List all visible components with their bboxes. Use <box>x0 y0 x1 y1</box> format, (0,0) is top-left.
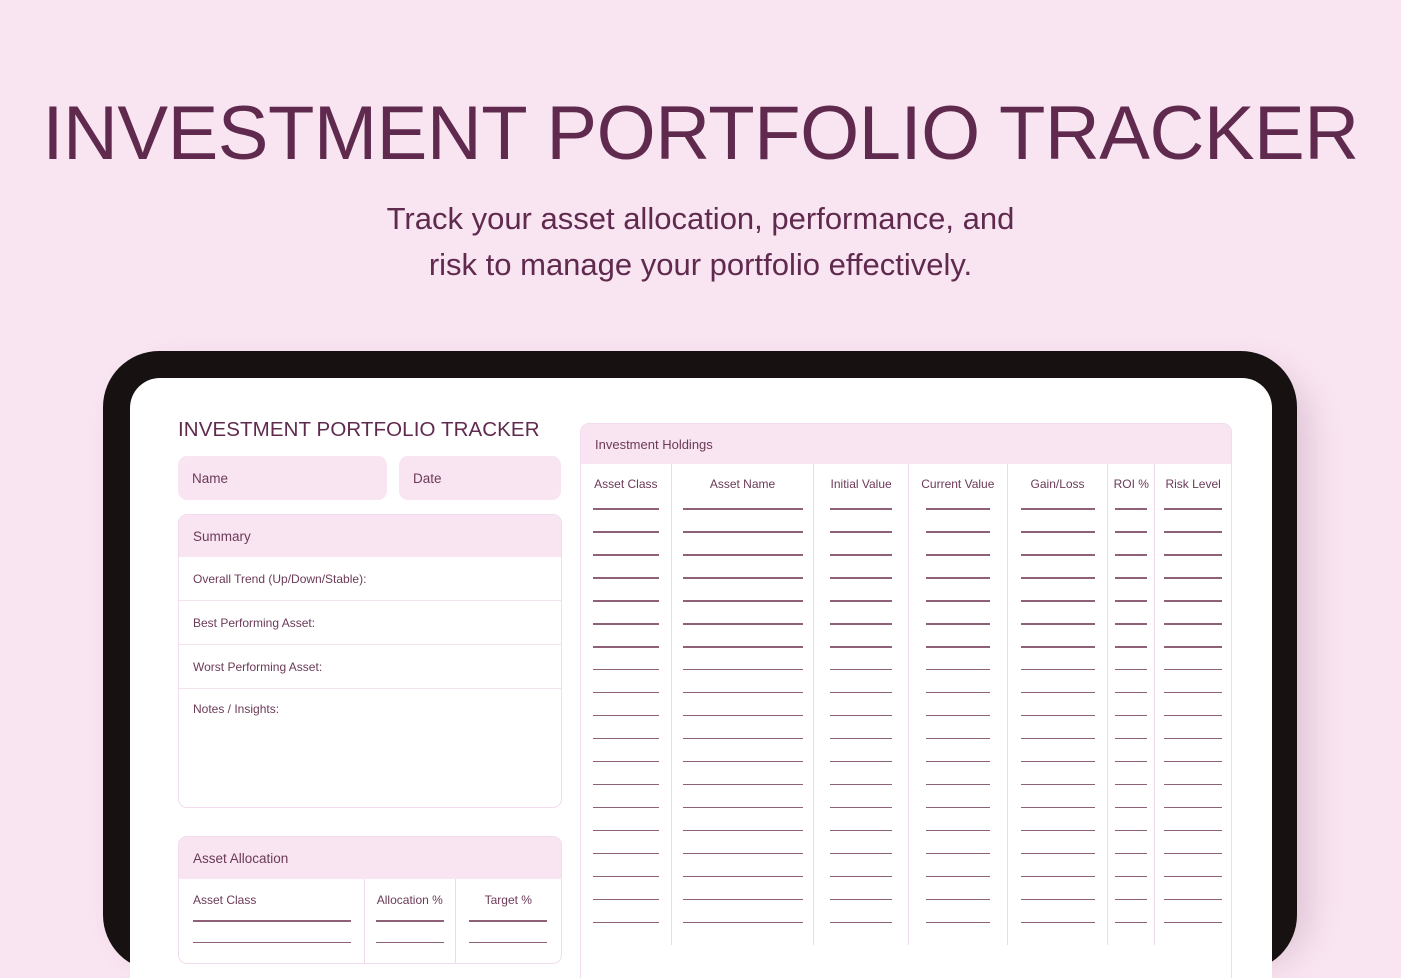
holdings-blank-line[interactable] <box>1164 761 1222 763</box>
holdings-blank-line[interactable] <box>830 577 892 579</box>
holdings-blank-line[interactable] <box>926 508 990 510</box>
holdings-blank-line[interactable] <box>926 669 990 671</box>
holdings-blank-line[interactable] <box>1164 899 1222 901</box>
holdings-blank-line[interactable] <box>830 922 892 924</box>
holdings-blank-line[interactable] <box>1115 531 1147 533</box>
holdings-blank-line[interactable] <box>1164 669 1222 671</box>
alloc-column-header: Target % <box>456 893 561 907</box>
holdings-blank-line[interactable] <box>926 784 990 786</box>
holdings-blank-line[interactable] <box>593 899 659 901</box>
holdings-blank-line[interactable] <box>830 830 892 832</box>
summary-row-label: Overall Trend (Up/Down/Stable): <box>193 572 366 586</box>
holdings-column-asset-class: Asset Class <box>581 464 671 945</box>
holdings-blank-line[interactable] <box>1115 830 1147 832</box>
holdings-blank-line[interactable] <box>830 508 892 510</box>
holdings-blank-line[interactable] <box>1115 600 1147 602</box>
holdings-column-header: Asset Class <box>581 477 671 491</box>
asset-allocation-table: Asset Class Allocation % Target % <box>179 879 561 963</box>
holdings-column-header: Risk Level <box>1155 477 1231 491</box>
holdings-blank-line[interactable] <box>683 692 803 694</box>
holdings-blank-line[interactable] <box>926 761 990 763</box>
holdings-blank-line[interactable] <box>1115 807 1147 809</box>
holdings-blank-line[interactable] <box>1115 738 1147 740</box>
holdings-blank-line[interactable] <box>593 646 659 648</box>
holdings-blank-line[interactable] <box>1115 853 1147 855</box>
holdings-blank-line[interactable] <box>926 830 990 832</box>
holdings-blank-line[interactable] <box>1164 646 1222 648</box>
holdings-blank-line[interactable] <box>830 738 892 740</box>
holdings-column-gain-loss: Gain/Loss <box>1007 464 1108 945</box>
name-field[interactable]: Name <box>178 456 387 500</box>
alloc-blank-line[interactable] <box>193 942 351 944</box>
holdings-blank-line[interactable] <box>593 531 659 533</box>
summary-row-best-performing[interactable]: Best Performing Asset: <box>179 601 561 645</box>
holdings-column-header: ROI % <box>1108 477 1154 491</box>
holdings-blank-line[interactable] <box>1115 577 1147 579</box>
holdings-blank-line[interactable] <box>593 623 659 625</box>
holdings-blank-line[interactable] <box>683 876 803 878</box>
holdings-blank-line[interactable] <box>1164 554 1222 556</box>
holdings-blank-line[interactable] <box>683 669 803 671</box>
holdings-blank-line[interactable] <box>1021 508 1095 510</box>
holdings-blank-line[interactable] <box>683 531 803 533</box>
summary-row-label: Best Performing Asset: <box>193 616 315 630</box>
summary-row-worst-performing[interactable]: Worst Performing Asset: <box>179 645 561 689</box>
worksheet-right-column: Investment Holdings Asset Class Asset Na… <box>580 423 1230 978</box>
holdings-blank-line[interactable] <box>1164 807 1222 809</box>
holdings-blank-line[interactable] <box>683 830 803 832</box>
holdings-blank-line[interactable] <box>1021 761 1095 763</box>
holdings-blank-line[interactable] <box>1115 876 1147 878</box>
holdings-blank-line[interactable] <box>1164 531 1222 533</box>
tablet-screen: INVESTMENT PORTFOLIO TRACKER Name Date S… <box>130 378 1272 978</box>
holdings-blank-line[interactable] <box>1021 876 1095 878</box>
holdings-blank-line[interactable] <box>1115 761 1147 763</box>
holdings-blank-line[interactable] <box>683 554 803 556</box>
holdings-blank-line[interactable] <box>1021 922 1095 924</box>
holdings-blank-line[interactable] <box>683 646 803 648</box>
holdings-blank-line[interactable] <box>926 646 990 648</box>
holdings-blank-line[interactable] <box>830 761 892 763</box>
holdings-blank-line[interactable] <box>593 508 659 510</box>
holdings-blank-line[interactable] <box>593 738 659 740</box>
holdings-blank-line[interactable] <box>1164 715 1222 717</box>
holdings-blank-line[interactable] <box>593 554 659 556</box>
holdings-blank-line[interactable] <box>1164 830 1222 832</box>
holdings-blank-line[interactable] <box>926 899 990 901</box>
holdings-blank-line[interactable] <box>683 600 803 602</box>
page-subtitle-line-2: risk to manage your portfolio effectivel… <box>429 247 972 282</box>
holdings-blank-line[interactable] <box>926 600 990 602</box>
summary-row-label: Worst Performing Asset: <box>193 660 322 674</box>
investment-holdings-table: Asset Class Asset Name Initial Value Cur… <box>581 464 1231 945</box>
holdings-blank-line[interactable] <box>593 876 659 878</box>
investment-holdings-card: Investment Holdings Asset Class Asset Na… <box>580 423 1232 978</box>
holdings-blank-line[interactable] <box>1021 646 1095 648</box>
summary-card-header: Summary <box>179 515 561 557</box>
asset-allocation-card-header: Asset Allocation <box>179 837 561 879</box>
holdings-blank-line[interactable] <box>1164 853 1222 855</box>
name-field-label: Name <box>192 471 228 486</box>
summary-row-label: Notes / Insights: <box>193 702 279 716</box>
holdings-blank-line[interactable] <box>1115 692 1147 694</box>
holdings-blank-line[interactable] <box>593 761 659 763</box>
holdings-blank-line[interactable] <box>1115 922 1147 924</box>
holdings-blank-line[interactable] <box>1021 807 1095 809</box>
holdings-blank-line[interactable] <box>1115 646 1147 648</box>
holdings-blank-line[interactable] <box>1021 692 1095 694</box>
holdings-blank-line[interactable] <box>683 807 803 809</box>
investment-holdings-card-header: Investment Holdings <box>581 424 1231 464</box>
holdings-blank-line[interactable] <box>683 761 803 763</box>
page-title: INVESTMENT PORTFOLIO TRACKER <box>0 0 1401 172</box>
holdings-blank-line[interactable] <box>1164 577 1222 579</box>
tracker-worksheet: INVESTMENT PORTFOLIO TRACKER Name Date S… <box>130 378 1272 978</box>
asset-allocation-heading: Asset Allocation <box>193 851 288 866</box>
holdings-blank-line[interactable] <box>926 853 990 855</box>
holdings-blank-line[interactable] <box>926 876 990 878</box>
worksheet-left-column: INVESTMENT PORTFOLIO TRACKER Name Date S… <box>178 418 562 978</box>
holdings-blank-line[interactable] <box>1021 899 1095 901</box>
holdings-blank-line[interactable] <box>830 646 892 648</box>
holdings-blank-line[interactable] <box>1164 692 1222 694</box>
summary-row-overall-trend[interactable]: Overall Trend (Up/Down/Stable): <box>179 557 561 601</box>
holdings-column-asset-name: Asset Name <box>671 464 814 945</box>
holdings-blank-line[interactable] <box>1115 715 1147 717</box>
page-subtitle-line-1: Track your asset allocation, performance… <box>387 201 1015 236</box>
holdings-blank-line[interactable] <box>593 853 659 855</box>
alloc-blank-line[interactable] <box>469 942 547 944</box>
holdings-blank-line[interactable] <box>830 899 892 901</box>
holdings-blank-line[interactable] <box>683 508 803 510</box>
holdings-column-header: Current Value <box>909 477 1007 491</box>
worksheet-title: INVESTMENT PORTFOLIO TRACKER <box>178 418 562 442</box>
summary-row-notes[interactable]: Notes / Insights: <box>179 689 561 807</box>
holdings-blank-line[interactable] <box>926 554 990 556</box>
holdings-blank-line[interactable] <box>830 853 892 855</box>
holdings-column-initial-value: Initial Value <box>813 464 908 945</box>
alloc-blank-line[interactable] <box>469 920 547 922</box>
holdings-blank-line[interactable] <box>926 807 990 809</box>
holdings-blank-line[interactable] <box>926 715 990 717</box>
investment-holdings-heading: Investment Holdings <box>595 437 713 452</box>
holdings-column-roi-pct: ROI % <box>1107 464 1154 945</box>
alloc-blank-line[interactable] <box>376 920 444 922</box>
holdings-blank-line[interactable] <box>1164 508 1222 510</box>
holdings-blank-line[interactable] <box>683 899 803 901</box>
holdings-blank-line[interactable] <box>1021 669 1095 671</box>
holdings-blank-line[interactable] <box>926 531 990 533</box>
holdings-blank-line[interactable] <box>1164 922 1222 924</box>
hero-section: INVESTMENT PORTFOLIO TRACKER Track your … <box>0 0 1401 288</box>
holdings-column-header: Gain/Loss <box>1008 477 1108 491</box>
holdings-blank-line[interactable] <box>830 554 892 556</box>
holdings-blank-line[interactable] <box>1021 784 1095 786</box>
holdings-blank-line[interactable] <box>1021 830 1095 832</box>
holdings-blank-line[interactable] <box>1021 531 1095 533</box>
holdings-blank-line[interactable] <box>683 715 803 717</box>
alloc-column-allocation-pct: Allocation % <box>364 879 455 963</box>
holdings-blank-line[interactable] <box>1164 784 1222 786</box>
holdings-blank-line[interactable] <box>1021 715 1095 717</box>
holdings-blank-line[interactable] <box>1115 669 1147 671</box>
holdings-blank-line[interactable] <box>593 669 659 671</box>
holdings-blank-line[interactable] <box>830 715 892 717</box>
holdings-blank-line[interactable] <box>683 784 803 786</box>
holdings-blank-line[interactable] <box>683 853 803 855</box>
holdings-blank-line[interactable] <box>1164 876 1222 878</box>
alloc-column-asset-class: Asset Class <box>179 879 364 963</box>
holdings-blank-line[interactable] <box>830 531 892 533</box>
alloc-column-target-pct: Target % <box>455 879 561 963</box>
asset-allocation-card: Asset Allocation Asset Class Allocation … <box>178 836 562 964</box>
alloc-column-header: Asset Class <box>179 893 364 907</box>
holdings-blank-line[interactable] <box>1115 623 1147 625</box>
holdings-blank-line[interactable] <box>1021 600 1095 602</box>
holdings-blank-line[interactable] <box>1164 623 1222 625</box>
holdings-blank-line[interactable] <box>830 807 892 809</box>
holdings-blank-line[interactable] <box>1021 554 1095 556</box>
holdings-blank-line[interactable] <box>683 922 803 924</box>
holdings-blank-line[interactable] <box>1021 853 1095 855</box>
summary-heading: Summary <box>193 529 251 544</box>
holdings-column-current-value: Current Value <box>908 464 1007 945</box>
holdings-blank-line[interactable] <box>593 600 659 602</box>
holdings-blank-line[interactable] <box>1021 577 1095 579</box>
summary-card: Summary Overall Trend (Up/Down/Stable): … <box>178 514 562 808</box>
holdings-blank-line[interactable] <box>830 784 892 786</box>
holdings-blank-line[interactable] <box>593 692 659 694</box>
date-field[interactable]: Date <box>399 456 561 500</box>
holdings-blank-line[interactable] <box>683 738 803 740</box>
holdings-blank-line[interactable] <box>1115 784 1147 786</box>
holdings-blank-line[interactable] <box>593 830 659 832</box>
holdings-blank-line[interactable] <box>926 577 990 579</box>
holdings-blank-line[interactable] <box>1115 554 1147 556</box>
holdings-blank-line[interactable] <box>593 784 659 786</box>
holdings-blank-line[interactable] <box>830 876 892 878</box>
alloc-blank-line[interactable] <box>376 942 444 944</box>
holdings-blank-line[interactable] <box>830 669 892 671</box>
holdings-blank-line[interactable] <box>830 623 892 625</box>
alloc-column-header: Allocation % <box>365 893 455 907</box>
page-subtitle: Track your asset allocation, performance… <box>0 172 1401 288</box>
holdings-blank-line[interactable] <box>683 623 803 625</box>
holdings-blank-line[interactable] <box>593 922 659 924</box>
holdings-blank-line[interactable] <box>1164 738 1222 740</box>
holdings-blank-line[interactable] <box>593 807 659 809</box>
alloc-blank-line[interactable] <box>193 920 351 922</box>
holdings-blank-line[interactable] <box>926 738 990 740</box>
holdings-blank-line[interactable] <box>1021 623 1095 625</box>
holdings-blank-line[interactable] <box>593 715 659 717</box>
identity-field-row: Name Date <box>178 456 562 500</box>
holdings-blank-line[interactable] <box>830 600 892 602</box>
holdings-blank-line[interactable] <box>830 692 892 694</box>
holdings-blank-line[interactable] <box>1115 508 1147 510</box>
holdings-blank-line[interactable] <box>926 692 990 694</box>
holdings-blank-line[interactable] <box>1021 738 1095 740</box>
holdings-column-risk-level: Risk Level <box>1154 464 1231 945</box>
holdings-column-header: Initial Value <box>814 477 908 491</box>
date-field-label: Date <box>413 471 442 486</box>
holdings-blank-line[interactable] <box>1115 899 1147 901</box>
holdings-blank-line[interactable] <box>593 577 659 579</box>
holdings-blank-line[interactable] <box>683 577 803 579</box>
holdings-column-header: Asset Name <box>672 477 814 491</box>
holdings-blank-line[interactable] <box>1164 600 1222 602</box>
holdings-blank-line[interactable] <box>926 922 990 924</box>
holdings-blank-line[interactable] <box>926 623 990 625</box>
